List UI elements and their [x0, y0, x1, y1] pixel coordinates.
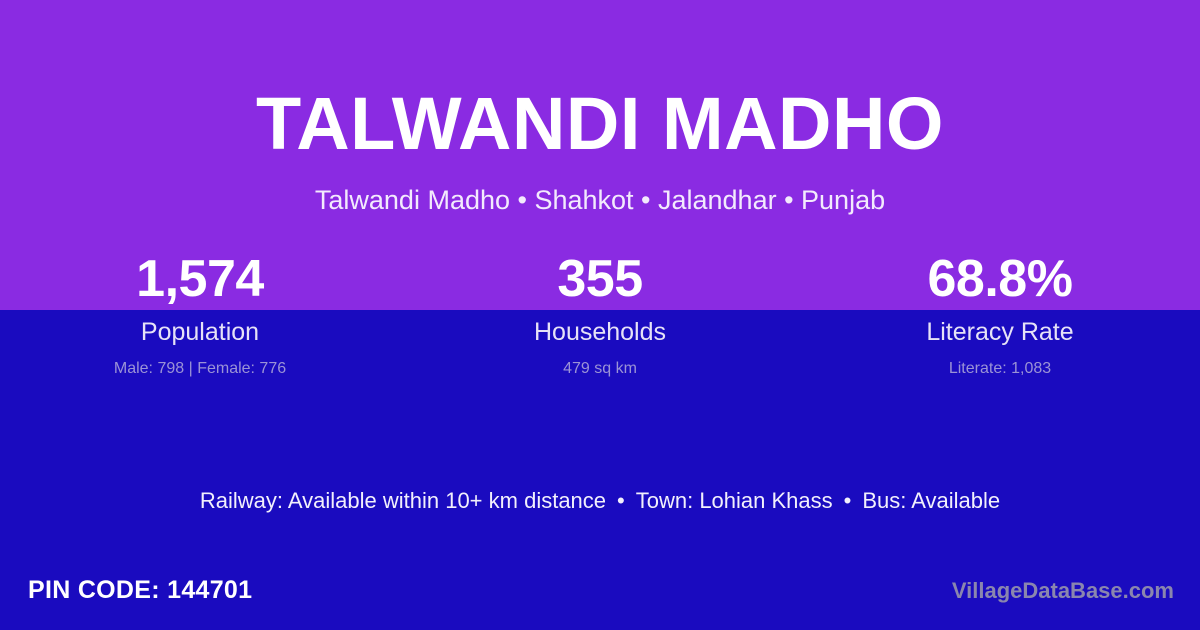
info-separator-2: • — [833, 486, 863, 516]
stat-value-population: 1,574 — [0, 248, 400, 310]
stat-value-households: 355 — [400, 248, 800, 310]
stat-label-literacy-rate: Literacy Rate — [800, 316, 1200, 348]
pin-code: PIN CODE: 144701 — [28, 574, 252, 606]
stats-row: 1,574 Population Male: 798 | Female: 776… — [0, 248, 1200, 380]
info-separator-1: • — [606, 486, 636, 516]
village-info-card: TALWANDI MADHO Talwandi Madho • Shahkot … — [0, 0, 1200, 630]
stat-population: 1,574 Population Male: 798 | Female: 776 — [0, 248, 400, 380]
info-town: Town: Lohian Khass — [636, 488, 833, 513]
info-bus: Bus: Available — [862, 488, 1000, 513]
info-railway: Railway: Available within 10+ km distanc… — [200, 488, 606, 513]
stat-sub-households: 479 sq km — [400, 358, 800, 380]
footer: PIN CODE: 144701 VillageDataBase.com — [0, 564, 1200, 630]
page-title: TALWANDI MADHO — [0, 82, 1200, 166]
breadcrumb: Talwandi Madho • Shahkot • Jalandhar • P… — [0, 183, 1200, 217]
stat-value-literacy-rate: 68.8% — [800, 248, 1200, 310]
stat-label-population: Population — [0, 316, 400, 348]
stat-households: 355 Households 479 sq km — [400, 248, 800, 380]
stat-sub-literacy-rate: Literate: 1,083 — [800, 358, 1200, 380]
stat-label-households: Households — [400, 316, 800, 348]
site-watermark: VillageDataBase.com — [952, 576, 1174, 606]
stat-sub-population: Male: 798 | Female: 776 — [0, 358, 400, 380]
stat-literacy-rate: 68.8% Literacy Rate Literate: 1,083 — [800, 248, 1200, 380]
amenities-info-line: Railway: Available within 10+ km distanc… — [0, 486, 1200, 516]
